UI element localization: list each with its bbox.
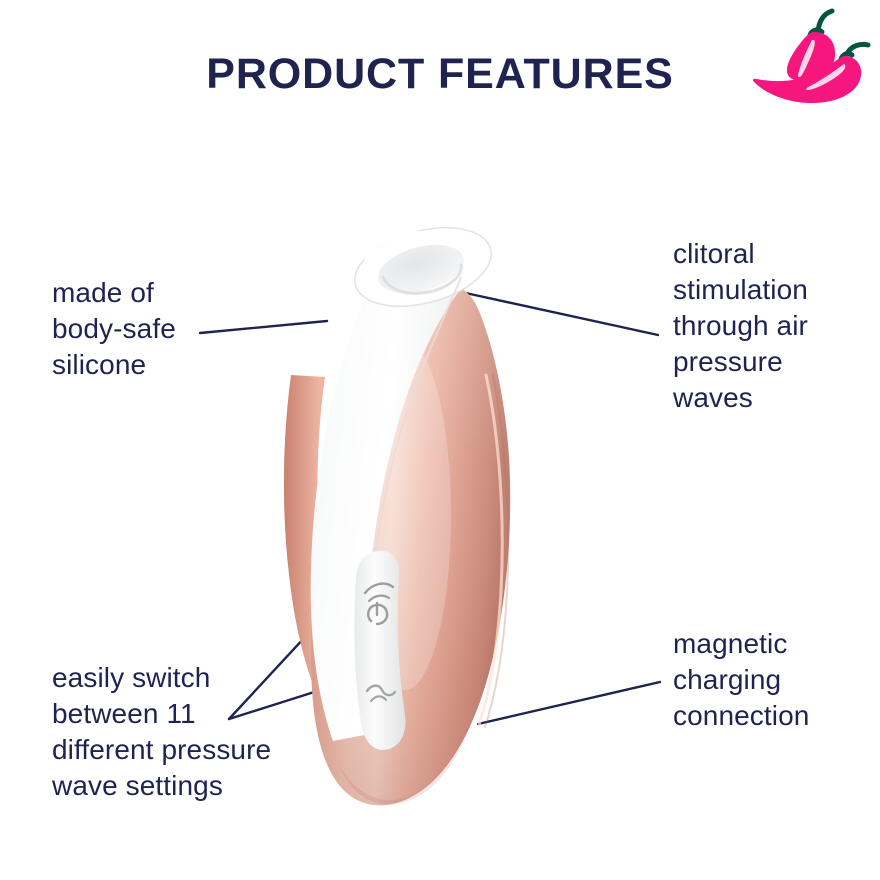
callout-magnetic-charging: magnetic charging connection	[673, 626, 873, 734]
control-strip	[354, 551, 405, 750]
callout-made-of-body-safe-silicone: made of body-safe silicone	[52, 275, 302, 383]
infographic-page: PRODUCT FEATURES	[0, 0, 880, 880]
callout-clitoral-stimulation: clitoral stimulation through air pressur…	[673, 236, 873, 416]
page-title: PRODUCT FEATURES	[0, 50, 880, 99]
callout-pressure-wave-settings: easily switch between 11 different press…	[52, 660, 312, 804]
chili-peppers-icon	[752, 8, 874, 108]
chili-peppers-logo	[752, 8, 874, 108]
